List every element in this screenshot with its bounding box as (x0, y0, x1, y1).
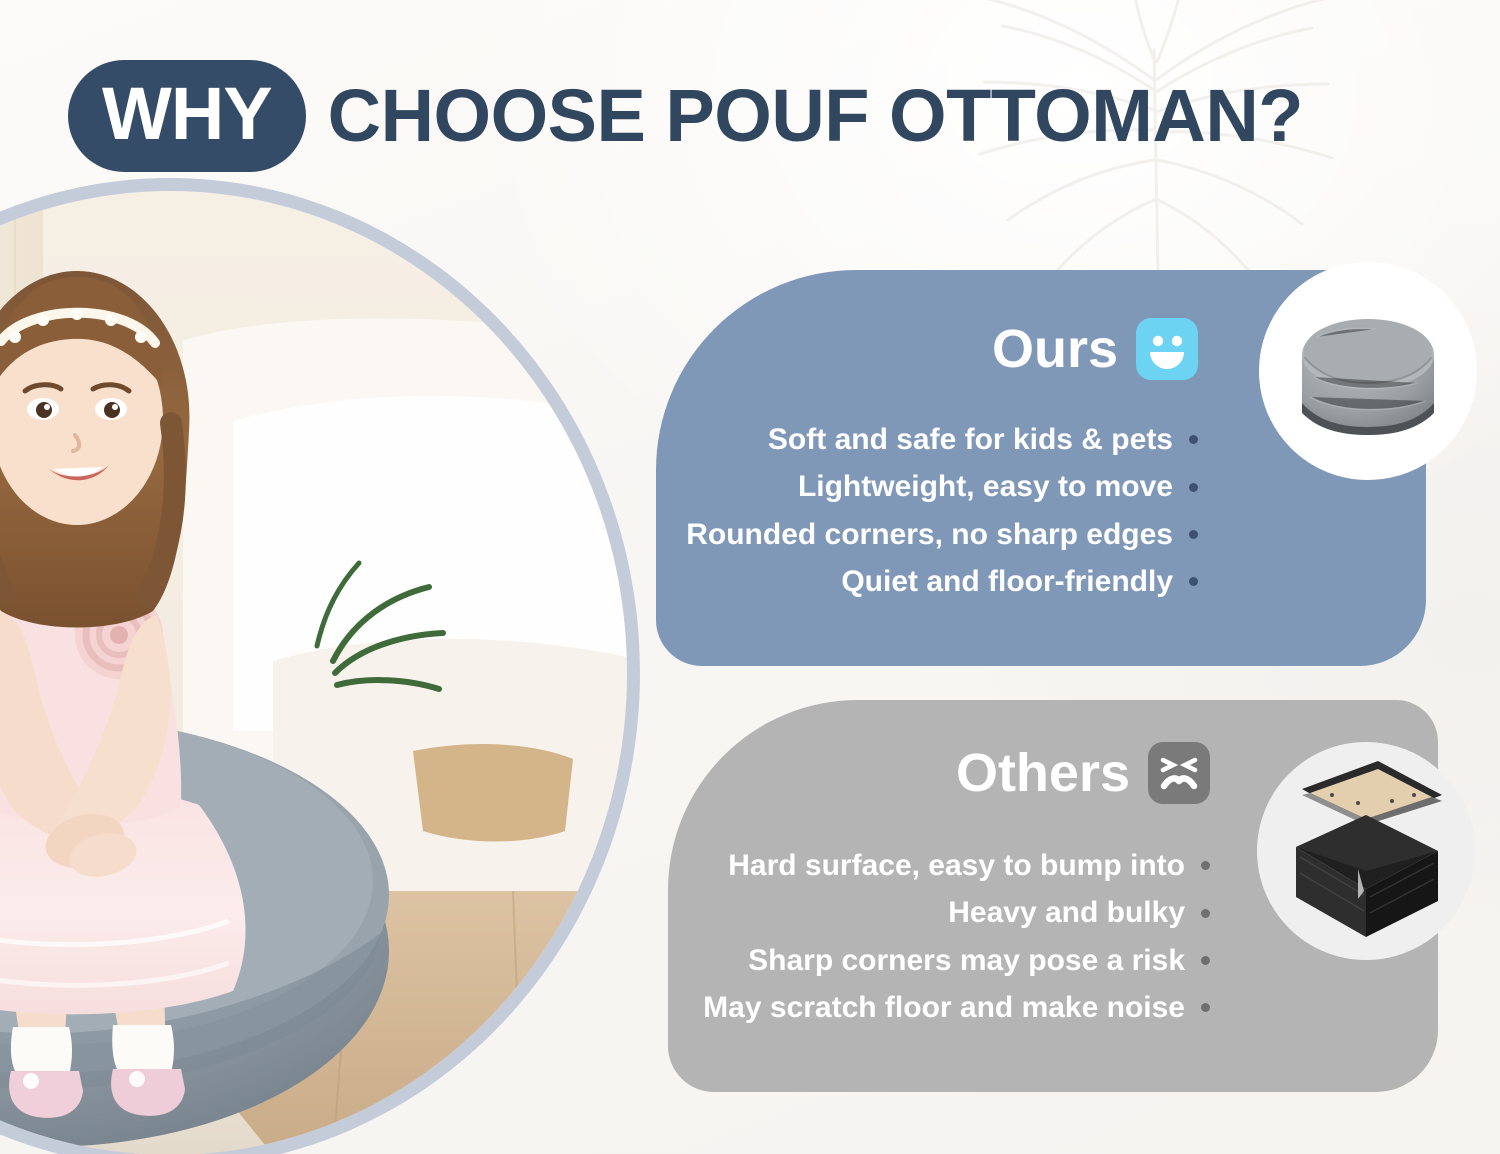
others-bullet-text: Sharp corners may pose a risk (748, 943, 1185, 978)
others-bullet-text: Hard surface, easy to bump into (728, 848, 1185, 883)
others-bullet-text: Heavy and bulky (948, 895, 1185, 930)
why-badge: WHY (68, 60, 306, 172)
frowning-face-icon (1148, 742, 1210, 804)
ours-product-thumbnail (1259, 262, 1477, 480)
bullet-dot-icon (1189, 530, 1198, 539)
black-square-storage-ottoman-image (1266, 751, 1466, 951)
ours-bullet-text: Soft and safe for kids & pets (768, 422, 1173, 457)
others-bullet-list: Hard surface, easy to bump into Heavy an… (703, 848, 1210, 1026)
round-gray-pouf-ottoman-image (1268, 271, 1468, 471)
page-title: CHOOSE POUF OTTOMAN? (328, 79, 1303, 153)
lifestyle-photo (0, 178, 640, 1154)
list-item: Quiet and floor-friendly (686, 564, 1198, 599)
page-header: WHY CHOOSE POUF OTTOMAN? (68, 60, 1303, 172)
list-item: Heavy and bulky (703, 895, 1210, 930)
ours-bullet-text: Rounded corners, no sharp edges (686, 517, 1173, 552)
others-bullet-text: May scratch floor and make noise (703, 990, 1185, 1025)
bullet-dot-icon (1201, 956, 1210, 965)
smiling-face-icon (1136, 318, 1198, 380)
bullet-dot-icon (1201, 909, 1210, 918)
ours-bullet-text: Quiet and floor-friendly (841, 564, 1173, 599)
bullet-dot-icon (1189, 577, 1198, 586)
list-item: May scratch floor and make noise (703, 990, 1210, 1025)
others-title: Others (956, 746, 1130, 800)
ours-bullet-list: Soft and safe for kids & pets Lightweigh… (686, 422, 1198, 600)
bullet-dot-icon (1201, 861, 1210, 870)
list-item: Rounded corners, no sharp edges (686, 517, 1198, 552)
others-panel-header: Others (956, 742, 1210, 804)
ours-panel-header: Ours (992, 318, 1198, 380)
list-item: Lightweight, easy to move (686, 469, 1198, 504)
list-item: Hard surface, easy to bump into (703, 848, 1210, 883)
infographic-canvas: WHY CHOOSE POUF OTTOMAN? (0, 0, 1500, 1154)
list-item: Soft and safe for kids & pets (686, 422, 1198, 457)
bullet-dot-icon (1189, 435, 1198, 444)
bullet-dot-icon (1201, 1003, 1210, 1012)
list-item: Sharp corners may pose a risk (703, 943, 1210, 978)
bullet-dot-icon (1189, 483, 1198, 492)
ours-title: Ours (992, 322, 1118, 376)
others-product-thumbnail (1257, 742, 1475, 960)
ours-bullet-text: Lightweight, easy to move (798, 469, 1173, 504)
